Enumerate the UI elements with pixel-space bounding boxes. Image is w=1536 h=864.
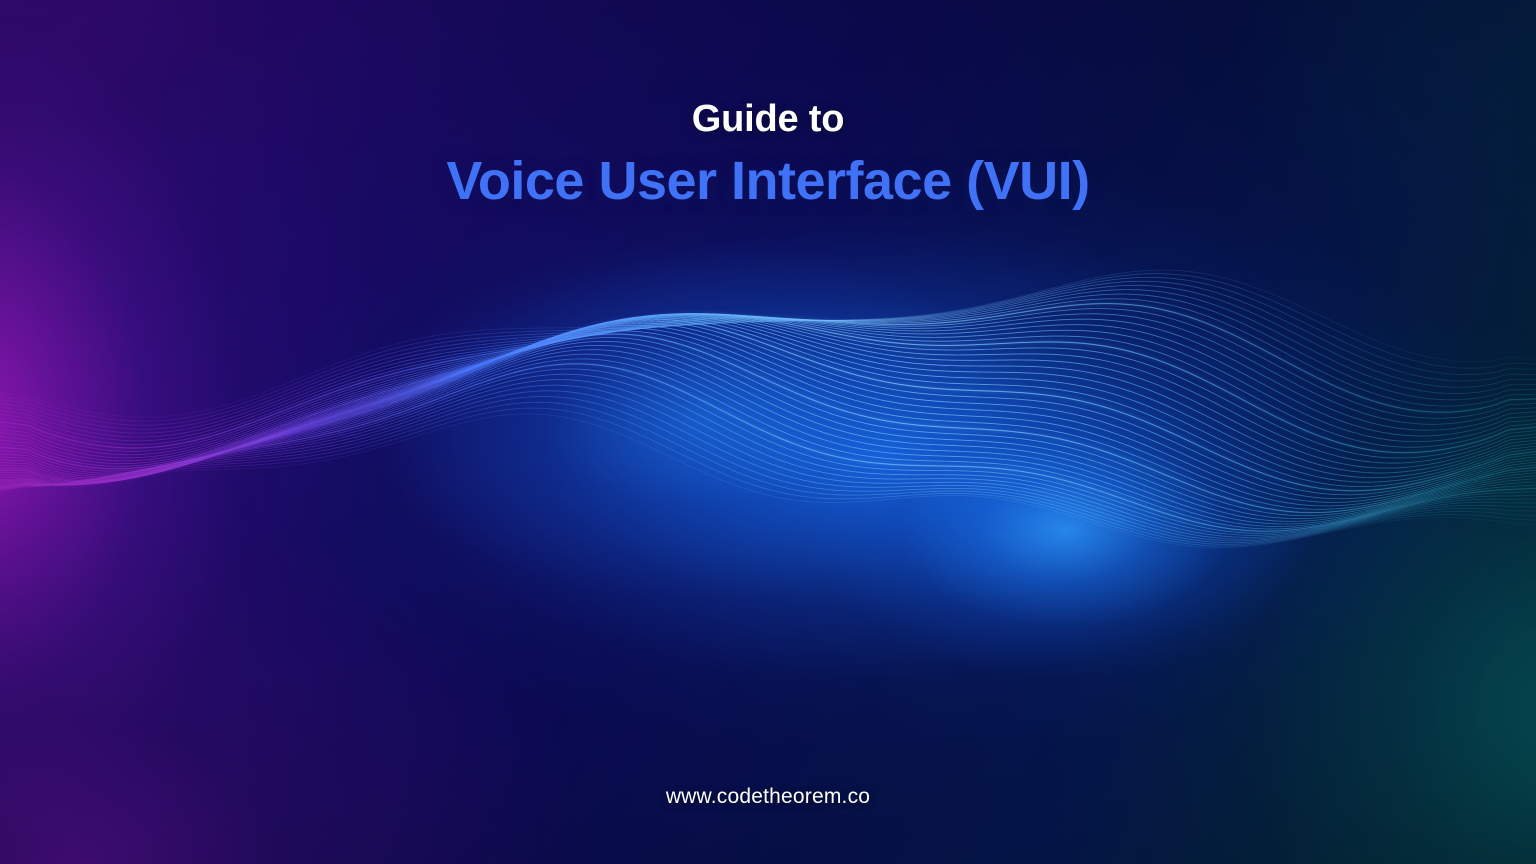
wave-line-highlight <box>0 304 1536 448</box>
wave-line <box>0 345 1536 521</box>
wave-line <box>0 314 1536 463</box>
wave-line <box>0 364 1536 531</box>
wave-line-group <box>0 270 1536 548</box>
wave-line <box>0 315 1536 458</box>
wave-line <box>0 314 1536 455</box>
wave-line <box>0 325 1536 502</box>
wave-line <box>0 314 1536 471</box>
wave-line <box>0 314 1536 466</box>
wave-line <box>0 402 1536 544</box>
wave-line <box>0 281 1536 429</box>
wave-line <box>0 338 1536 516</box>
wave-line <box>0 323 1536 499</box>
page-title-main: Voice User Interface (VUI) <box>0 152 1536 210</box>
wave-line <box>0 341 1536 518</box>
wave-line <box>0 369 1536 533</box>
wave-line <box>0 277 1536 425</box>
wave-line <box>0 290 1536 437</box>
wave-line <box>0 408 1536 546</box>
wave-line <box>0 315 1536 461</box>
wave-line <box>0 385 1536 539</box>
wave-line <box>0 321 1536 495</box>
wave-line <box>0 414 1536 548</box>
wave-line <box>0 380 1536 538</box>
wave-line <box>0 397 1536 543</box>
wave-line <box>0 374 1536 535</box>
wave-line-highlight <box>0 334 1536 512</box>
wave-line <box>0 285 1536 433</box>
wave-line <box>0 299 1536 445</box>
headline-block: Guide to Voice User Interface (VUI) <box>0 100 1536 210</box>
wave-line <box>0 314 1536 476</box>
wave-line <box>0 314 1536 473</box>
wave-line-highlight <box>0 364 1536 531</box>
footer-website-url: www.codetheorem.co <box>666 785 870 808</box>
wave-line <box>0 331 1536 509</box>
wave-line <box>0 334 1536 512</box>
wave-line <box>0 391 1536 541</box>
wave-line <box>0 294 1536 441</box>
wave-line <box>0 354 1536 526</box>
wave-line <box>0 319 1536 491</box>
wave-line-highlight <box>0 314 1536 469</box>
wave-line <box>0 350 1536 524</box>
wave-line <box>0 315 1536 478</box>
wave-line-highlight <box>0 319 1536 491</box>
page-title-eyebrow: Guide to <box>0 100 1536 140</box>
wave-line <box>0 304 1536 448</box>
footer-block: www.codetheorem.co <box>0 785 1536 809</box>
wave-line <box>0 314 1536 475</box>
wave-line <box>0 314 1536 469</box>
wave-line <box>0 359 1536 529</box>
banner-canvas: Guide to Voice User Interface (VUI) www.… <box>0 0 1536 864</box>
wave-line <box>0 316 1536 482</box>
wave-line <box>0 317 1536 486</box>
wave-line <box>0 270 1536 417</box>
wave-line-glow-group <box>0 304 1536 532</box>
wave-line <box>0 274 1536 422</box>
wave-line <box>0 328 1536 506</box>
wave-line <box>0 309 1536 452</box>
